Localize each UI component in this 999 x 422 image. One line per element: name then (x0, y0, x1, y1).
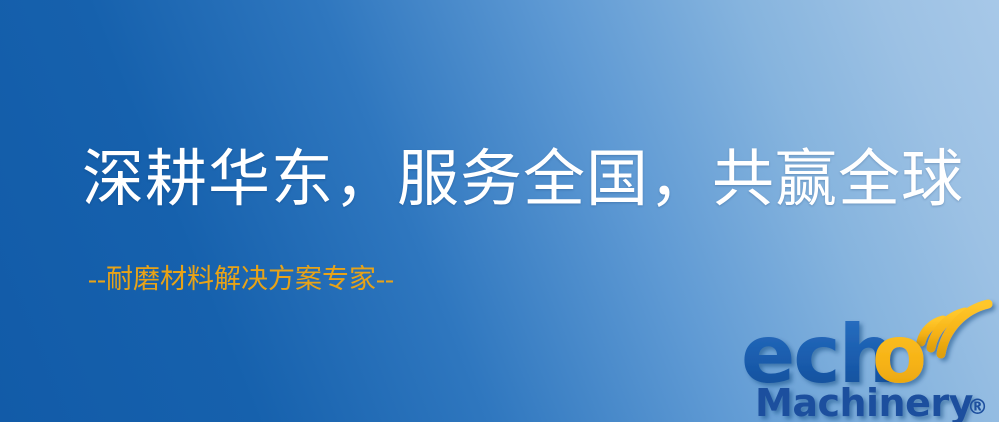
echo-machinery-logo: ech o Machinery ® (735, 290, 999, 422)
signal-arcs-icon (921, 304, 988, 354)
page-title: 深耕华东，服务全国，共赢全球 (82, 148, 964, 213)
registered-trademark-icon: ® (967, 395, 988, 419)
logo-tagline: Machinery (755, 381, 974, 422)
page-subtitle: --耐磨材料解决方案专家-- (88, 265, 394, 295)
promo-banner: 深耕华东，服务全国，共赢全球 --耐磨材料解决方案专家-- (0, 0, 999, 422)
